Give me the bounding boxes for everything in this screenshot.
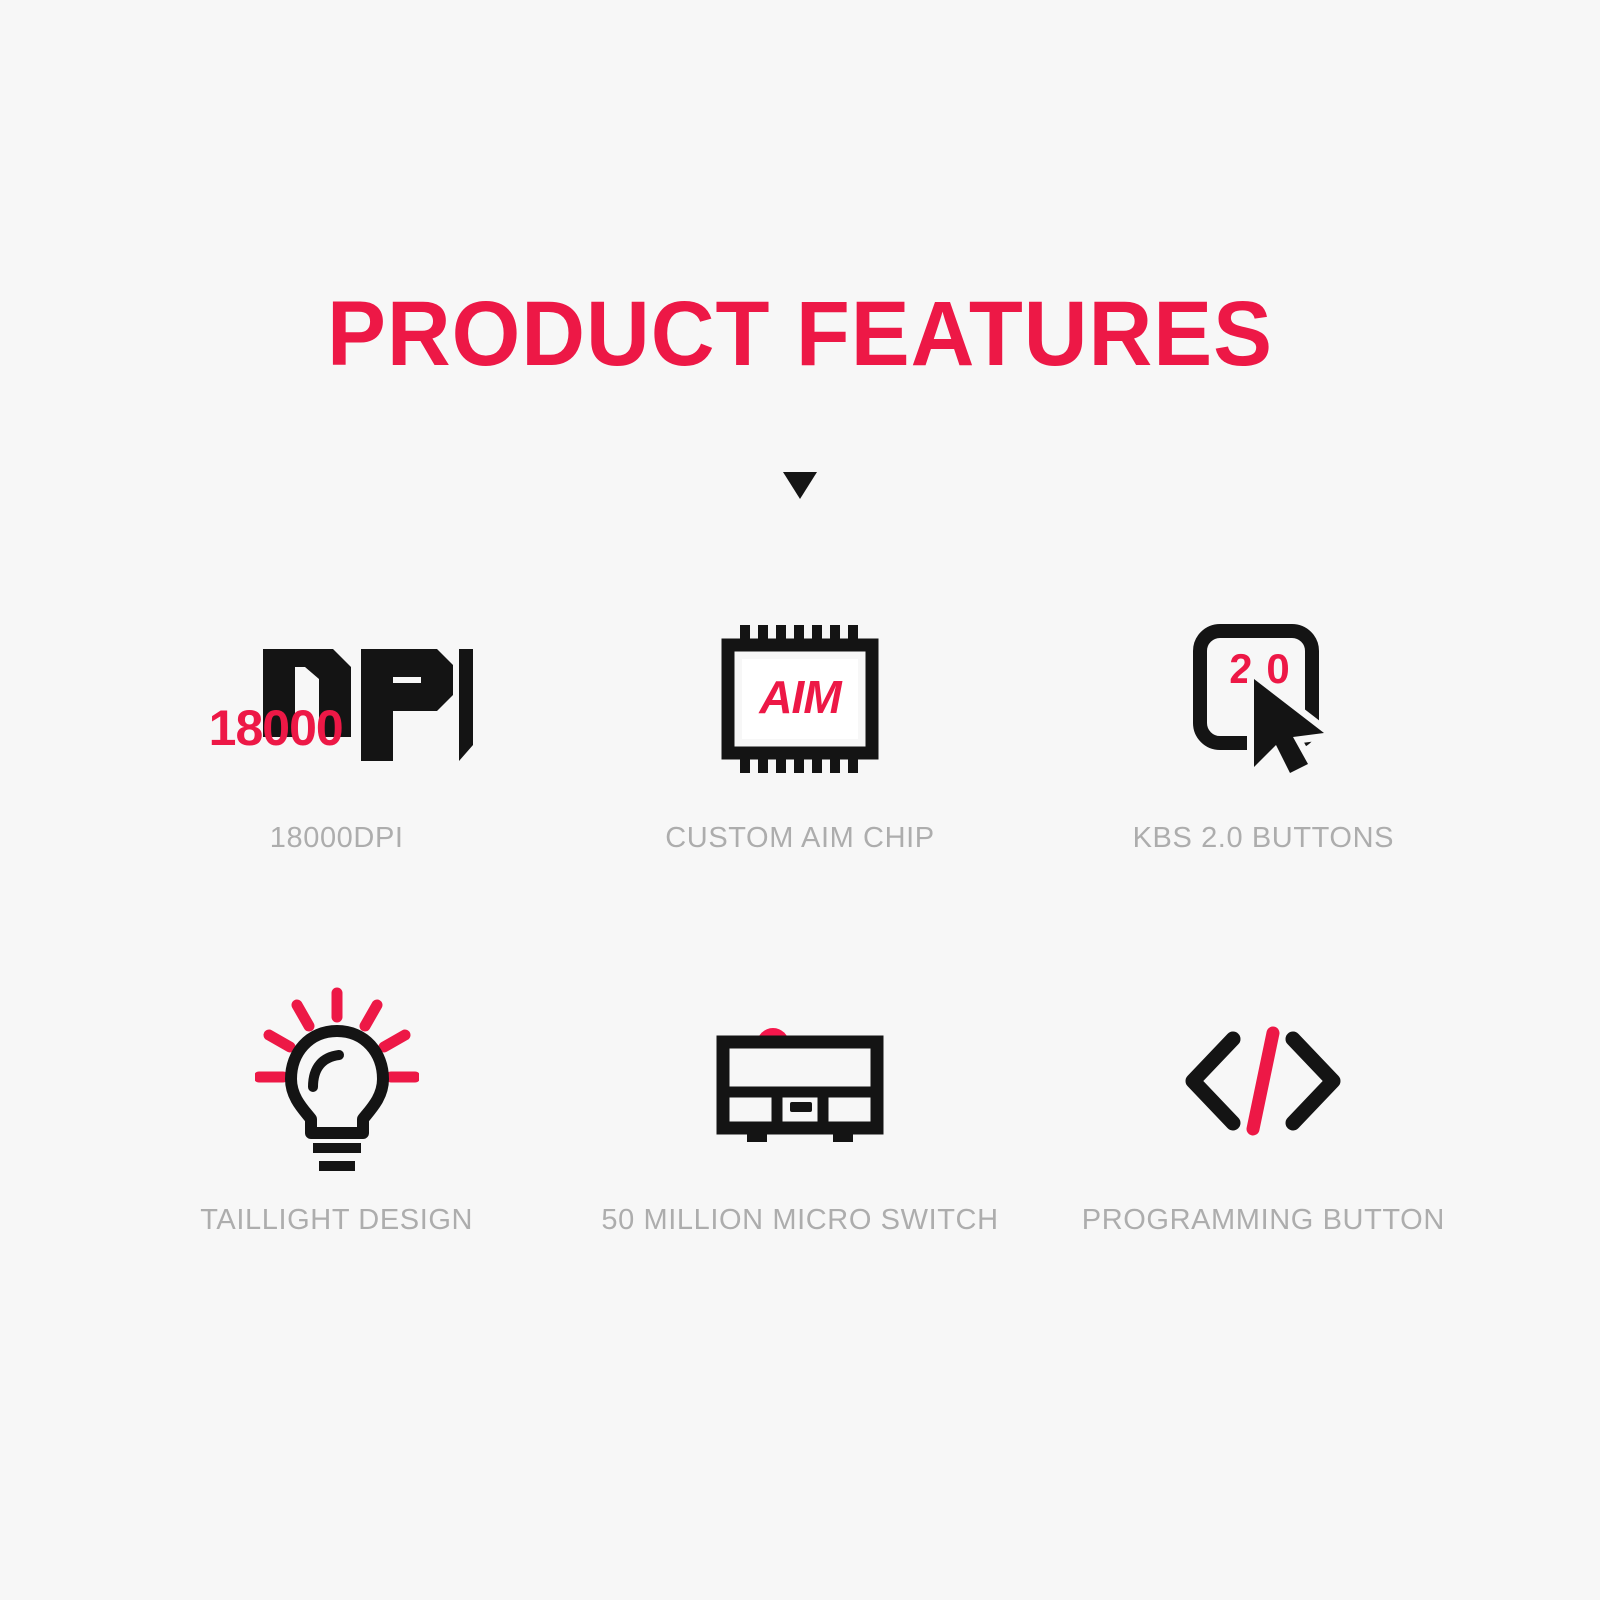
feature-item-micro-switch[interactable]: 50 MILLION MICRO SWITCH	[568, 986, 1031, 1368]
feature-label-programming-button: PROGRAMMING BUTTON	[1082, 1204, 1445, 1237]
feature-label-dpi: 18000DPI	[270, 822, 404, 855]
svg-text:AIM: AIM	[758, 671, 843, 723]
feature-item-dpi[interactable]: 18000 18000DPI	[105, 604, 568, 986]
click-button-icon: 2.0	[1188, 621, 1338, 777]
feature-item-kbs-buttons[interactable]: 2.0 KBS 2.0 BUTTONS	[1032, 604, 1495, 986]
triangle-down-icon	[783, 472, 817, 499]
feature-label-kbs-buttons: KBS 2.0 BUTTONS	[1133, 822, 1395, 855]
title-block: PRODUCT FEATURES	[0, 288, 1600, 380]
feature-icon-wrap: 18000	[207, 604, 467, 794]
feature-item-taillight[interactable]: TAILLIGHT DESIGN	[105, 986, 568, 1368]
chip-icon: AIM	[716, 623, 884, 775]
page-title: PRODUCT FEATURES	[32, 288, 1568, 380]
feature-label-aim-chip: CUSTOM AIM CHIP	[665, 822, 935, 855]
product-features-page: PRODUCT FEATURES 18000	[0, 0, 1600, 1600]
feature-icon-wrap	[670, 986, 930, 1176]
feature-item-aim-chip[interactable]: AIM CUSTOM AIM CHIP	[568, 604, 1031, 986]
feature-label-taillight: TAILLIGHT DESIGN	[200, 1204, 473, 1237]
feature-icon-wrap: 2.0	[1133, 604, 1393, 794]
dpi-icon: 18000	[201, 633, 473, 765]
divider	[783, 472, 817, 506]
features-grid: 18000 18000DPI	[105, 604, 1495, 1368]
feature-item-programming-button[interactable]: PROGRAMMING BUTTON	[1032, 986, 1495, 1368]
micro-switch-icon	[715, 1016, 885, 1146]
dpi-number-text: 18000	[209, 703, 343, 753]
feature-icon-wrap: AIM	[670, 604, 930, 794]
feature-icon-wrap	[1133, 986, 1393, 1176]
lightbulb-icon	[255, 987, 419, 1175]
code-brackets-icon	[1177, 1025, 1349, 1137]
feature-icon-wrap	[207, 986, 467, 1176]
feature-label-micro-switch: 50 MILLION MICRO SWITCH	[601, 1204, 998, 1237]
